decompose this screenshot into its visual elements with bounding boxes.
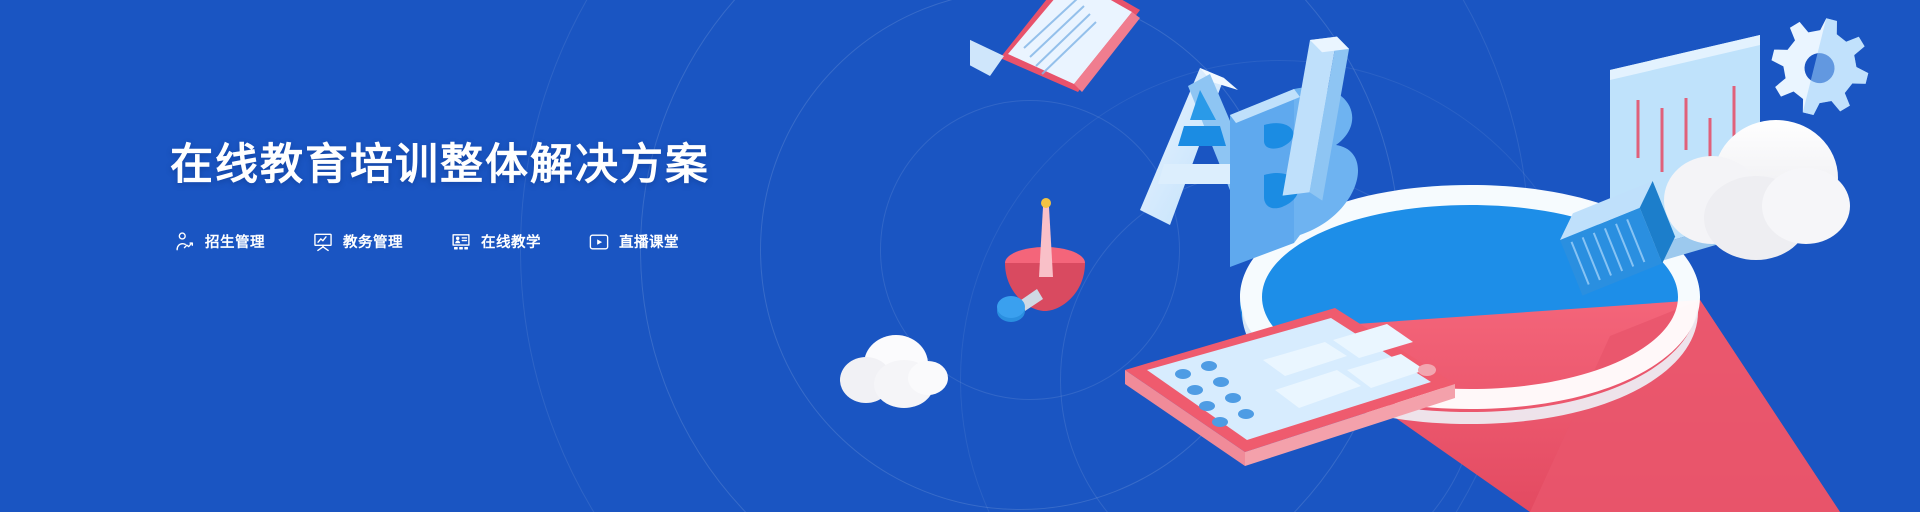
- education-banner: 1 2 3 4 5: [0, 0, 1920, 512]
- play-video-icon: [588, 231, 610, 253]
- person-growth-icon: [174, 231, 196, 253]
- open-book: [970, 0, 1140, 92]
- easel-chart-icon: [312, 231, 334, 253]
- feature-item-live-classroom[interactable]: 直播课堂: [588, 231, 679, 253]
- feature-item-enrollment[interactable]: 招生管理: [174, 231, 265, 253]
- page-title: 在线教育培训整体解决方案: [170, 140, 726, 192]
- teacher-board-icon: [450, 231, 472, 253]
- gear: [1761, 8, 1879, 126]
- spinning-top: [997, 198, 1085, 322]
- feature-item-online-teaching[interactable]: 在线教学: [450, 231, 541, 253]
- banner-content: 在线教育培训整体解决方案 招生管理: [170, 140, 726, 253]
- feature-label: 招生管理: [205, 231, 265, 252]
- feature-label: 直播课堂: [619, 231, 679, 252]
- online-education-isometric-illustration: 1 2 3 4 5: [970, 0, 1920, 512]
- feature-item-academic-affairs[interactable]: 教务管理: [312, 231, 403, 253]
- cloud-left-small: [838, 330, 948, 410]
- feature-label: 教务管理: [343, 231, 403, 252]
- feature-label: 在线教学: [481, 231, 541, 252]
- feature-list: 招生管理 教务管理: [174, 231, 726, 253]
